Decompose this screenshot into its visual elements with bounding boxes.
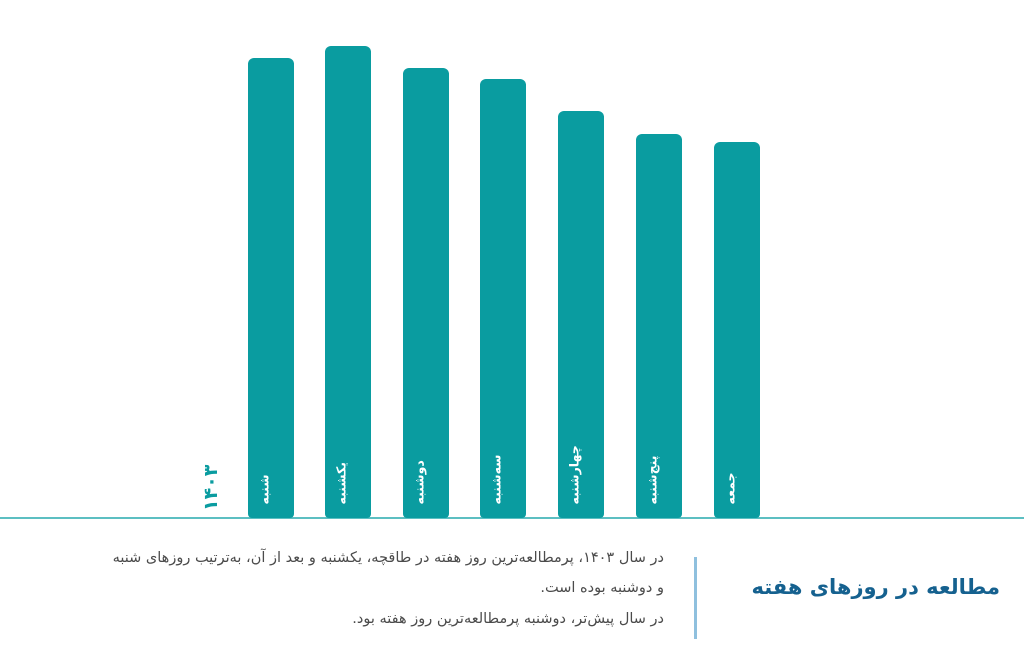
infographic-page: ۱۴۰۳ شنبه یکشنبه دوشنبه سه‌شنبه [0, 0, 1024, 652]
bar-panjshanbe[interactable]: پنج‌شنبه [636, 134, 682, 518]
year-label-container: ۱۴۰۳ [205, 7, 235, 525]
bar-label-chaharshanbe: چهارشنبه [569, 445, 582, 504]
caption-line-1: در سال ۱۴۰۳، پرمطالعه‌ترین روز هفته در ط… [79, 543, 664, 573]
bar-chart: ۱۴۰۳ شنبه یکشنبه دوشنبه سه‌شنبه [0, 0, 1024, 525]
bar-label-shanbe: شنبه [259, 474, 272, 504]
bar-label-panjshanbe: پنج‌شنبه [647, 455, 660, 504]
page-title: مطالعه در روزهای هفته [700, 573, 1000, 602]
bar-yekshanbe[interactable]: یکشنبه [325, 46, 371, 518]
caption-line-2: و دوشنبه بوده است. [79, 573, 664, 603]
bar-group: شنبه یکشنبه دوشنبه سه‌شنبه چ [248, 0, 768, 518]
bar-label-doshanbe: دوشنبه [414, 460, 427, 504]
bar-label-yekshanbe: یکشنبه [336, 462, 349, 504]
bar-jomeh[interactable]: جمعه [714, 142, 760, 518]
caption-block: در سال ۱۴۰۳، پرمطالعه‌ترین روز هفته در ط… [0, 525, 1024, 652]
caption-body: در سال ۱۴۰۳، پرمطالعه‌ترین روز هفته در ط… [79, 543, 664, 634]
caption-line-3: در سال پیش‌تر، دوشنبه پرمطالعه‌ترین روز … [79, 604, 664, 634]
bar-label-jomeh: جمعه [725, 472, 738, 504]
bar-label-seshanbe: سه‌شنبه [491, 454, 504, 504]
bar-chaharshanbe[interactable]: چهارشنبه [558, 111, 604, 518]
bar-shanbe[interactable]: شنبه [248, 58, 294, 518]
chart-year-label: ۱۴۰۳ [202, 465, 221, 511]
bar-doshanbe[interactable]: دوشنبه [403, 68, 449, 518]
vertical-divider [694, 557, 697, 639]
bar-seshanbe[interactable]: سه‌شنبه [480, 79, 526, 518]
